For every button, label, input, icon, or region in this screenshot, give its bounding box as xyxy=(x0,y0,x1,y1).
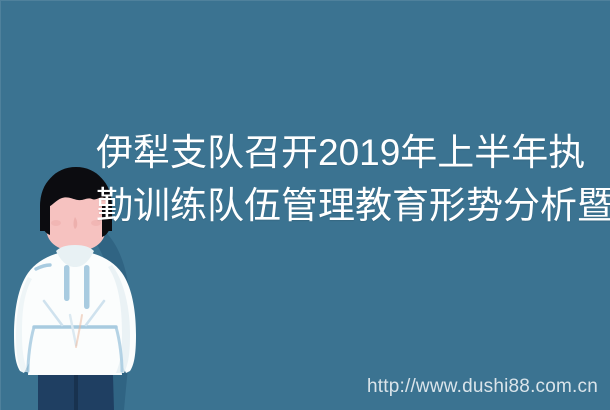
article-thumbnail-card: 伊犁支队召开2019年上半年执 勤训练队伍管理教育形势分析暨百 http://w… xyxy=(0,0,610,410)
title-line-1: 伊犁支队召开2019年上半年执 xyxy=(96,128,610,178)
watermark-url: http://www.dushi88.com.cn xyxy=(367,376,598,398)
page-title: 伊犁支队召开2019年上半年执 勤训练队伍管理教育形势分析暨百 xyxy=(96,128,610,231)
title-line-2: 勤训练队伍管理教育形势分析暨百 xyxy=(96,181,610,231)
